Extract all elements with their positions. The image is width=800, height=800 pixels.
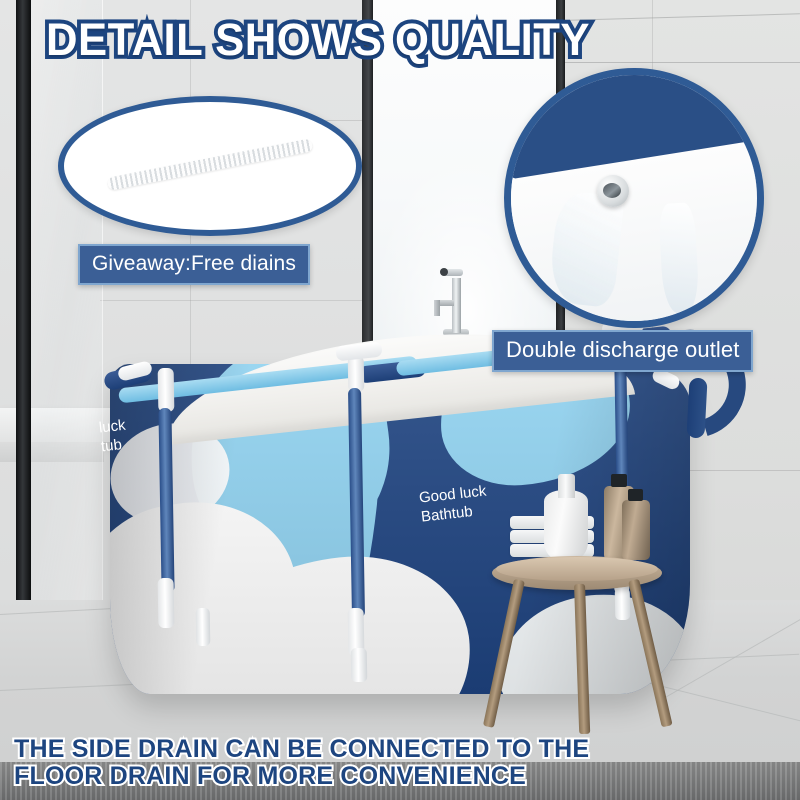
- footer-caption-line2: FLOOR DRAIN FOR MORE CONVENIENCE: [14, 763, 589, 790]
- stool-leg: [628, 579, 672, 728]
- callout-circle-discharge-outlet: [504, 68, 764, 328]
- tub-brand-text-right: Good luck Bathtub: [418, 482, 489, 527]
- tub-pole-foot-sleeve: [158, 578, 175, 628]
- tub-pole-sleeve: [348, 356, 365, 392]
- wall-grout-line: [560, 62, 800, 63]
- headline: DETAIL SHOWS QUALITY: [46, 14, 590, 66]
- footer-caption: THE SIDE DRAIN CAN BE CONNECTED TO THE F…: [14, 736, 589, 790]
- tub-rim-right: [686, 378, 707, 439]
- stool-seat-face: [496, 557, 658, 581]
- stool-leg: [574, 584, 590, 734]
- tub-brand-left-line2: tub: [100, 435, 129, 457]
- drain-hose-illustration: [106, 150, 314, 178]
- badge-discharge-outlet: Double discharge outlet: [492, 330, 753, 372]
- drain-hose-corrugated: [107, 138, 314, 190]
- wall-grout-line: [100, 300, 365, 301]
- tub-brand-text-left: luck tub: [98, 417, 129, 457]
- ceramic-vase: [544, 490, 588, 560]
- tub-pole-sleeve: [158, 368, 175, 412]
- tub-brand-left-line1: luck: [98, 417, 127, 439]
- callout-ellipse-drain-hose: [58, 96, 362, 236]
- amber-bottle-short: [622, 500, 650, 560]
- faucet-spout-vertical: [434, 300, 440, 316]
- ceramic-vase-neck: [558, 474, 575, 498]
- tub-leg: [351, 648, 368, 682]
- faucet-head-icon: [440, 268, 448, 276]
- amber-bottle-short-cap: [628, 489, 643, 501]
- product-marketing-image: Good luck Bathtub luck tub: [0, 0, 800, 800]
- tub-leg: [196, 608, 211, 646]
- footer-caption-line1: THE SIDE DRAIN CAN BE CONNECTED TO THE: [14, 736, 589, 763]
- amber-bottle-tall-cap: [611, 474, 627, 487]
- discharge-outlet-nozzle: [603, 183, 621, 198]
- badge-giveaway: Giveaway:Free diains: [78, 244, 310, 285]
